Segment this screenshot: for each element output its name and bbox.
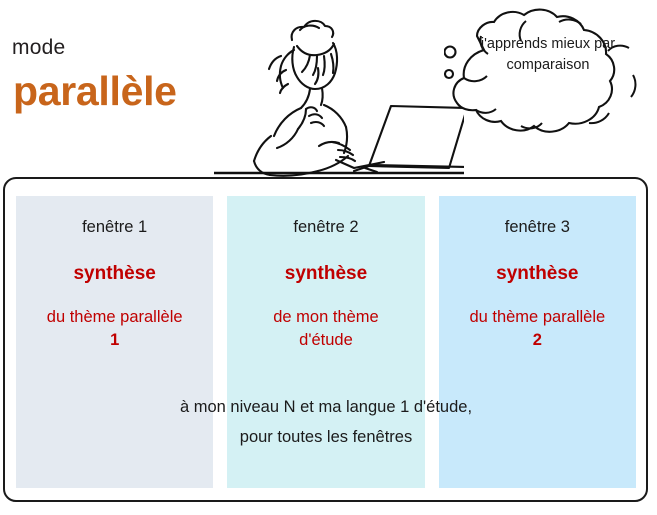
person-at-laptop-icon [214,0,464,178]
windows-row: fenêtre 1 synthèse du thème parallèle 1 … [16,196,636,488]
window-detail-number-1: 1 [20,329,209,352]
window-detail-3: du thème parallèle 2 [443,306,632,352]
window-detail-number-2: d'étude [231,329,420,352]
synthesis-label-3: synthèse [443,263,632,285]
synthesis-label-2: synthèse [231,263,420,285]
window-detail-text-3: du thème parallèle [469,308,605,326]
window-label-3: fenêtre 3 [443,218,632,237]
window-label-2: fenêtre 2 [231,218,420,237]
window-detail-1: du thème parallèle 1 [20,306,209,352]
window-detail-2: de mon thème d'étude [231,306,420,352]
bubble-text: j'apprends mieux par comparaison [474,34,622,76]
synthesis-label-1: synthèse [20,263,209,285]
window-column-3[interactable]: fenêtre 3 synthèse du thème parallèle 2 [439,196,636,488]
window-label-1: fenêtre 1 [20,218,209,237]
window-detail-number-3: 2 [443,329,632,352]
window-detail-text-2: de mon thème [273,308,378,326]
slide-canvas: mode parallèle [0,0,657,515]
window-column-2[interactable]: fenêtre 2 synthèse de mon thème d'étude [227,196,424,488]
window-column-1-content: fenêtre 1 synthèse du thème parallèle 1 [16,218,213,352]
mode-label: mode [12,36,65,60]
window-column-2-content: fenêtre 2 synthèse de mon thème d'étude [227,218,424,352]
window-detail-text-1: du thème parallèle [47,308,183,326]
window-column-3-content: fenêtre 3 synthèse du thème parallèle 2 [439,218,636,352]
window-column-1[interactable]: fenêtre 1 synthèse du thème parallèle 1 [16,196,213,488]
page-title: parallèle [13,68,177,115]
